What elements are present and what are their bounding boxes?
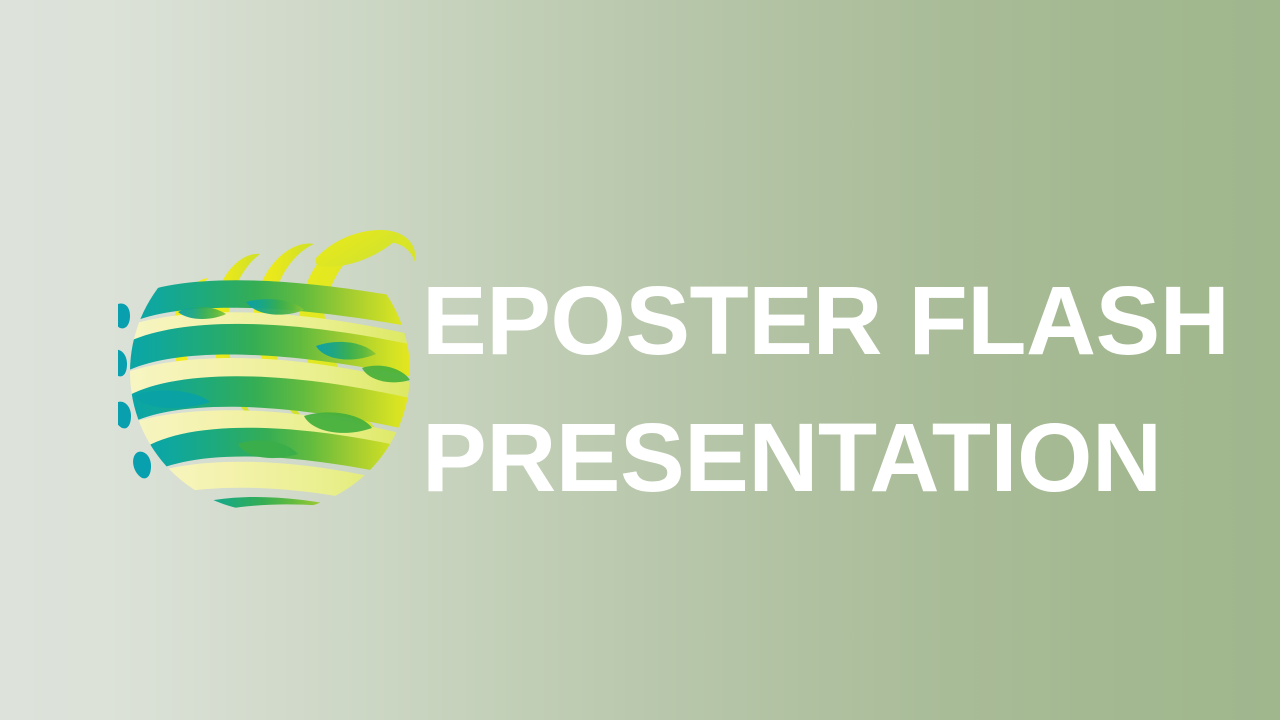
title-line-2: PRESENTATION [422,389,1222,526]
globe-ribbon-logo [118,200,418,520]
logo-band-tail [173,497,366,520]
logo-cap-1 [118,304,130,329]
slide-title: EPOSTER FLASH PRESENTATION [422,252,1222,526]
logo-cap-3 [118,402,131,429]
logo-cap-2 [118,350,127,377]
globe-ribbon-icon [118,200,418,520]
logo-leaf-shape [316,230,402,266]
logo-globe-body [118,280,418,520]
title-line-1: EPOSTER FLASH [422,252,1222,389]
logo-cap-4 [133,452,151,479]
presentation-slide: EPOSTER FLASH PRESENTATION [0,0,1280,720]
logo-band-pale-4 [128,462,418,514]
